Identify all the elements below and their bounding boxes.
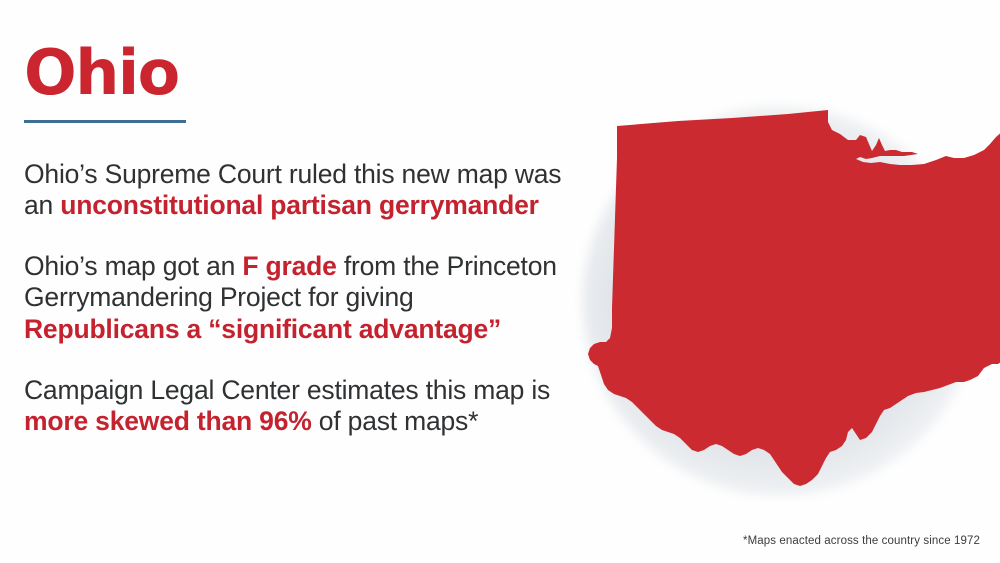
paragraph-skew-text-0: Campaign Legal Center estimates this map… [24,375,550,405]
infographic-slide: Ohio Ohio’s Supreme Court ruled this new… [0,0,1000,563]
paragraph-f-grade-emphasis-1: F grade [242,251,336,281]
text-column: Ohio Ohio’s Supreme Court ruled this new… [24,44,564,438]
title-underline-rule [24,120,186,123]
footnote-text: *Maps enacted across the country since 1… [743,535,980,547]
paragraph-skew: Campaign Legal Center estimates this map… [24,375,564,438]
paragraph-court-ruling-emphasis-1: unconstitutional partisan gerrymander [60,190,539,220]
ohio-state-map-icon [560,88,1000,508]
paragraph-f-grade: Ohio’s map got an F grade from the Princ… [24,251,564,346]
body-text-block: Ohio’s Supreme Court ruled this new map … [24,159,564,438]
map-container [560,88,1000,508]
page-title: Ohio [24,44,564,103]
paragraph-court-ruling: Ohio’s Supreme Court ruled this new map … [24,159,564,222]
paragraph-skew-text-2: of past maps* [312,406,479,436]
paragraph-f-grade-emphasis-3: Republicans a “significant advantage” [24,314,501,344]
paragraph-skew-emphasis-1: more skewed than 96% [24,406,312,436]
paragraph-f-grade-text-0: Ohio’s map got an [24,251,242,281]
